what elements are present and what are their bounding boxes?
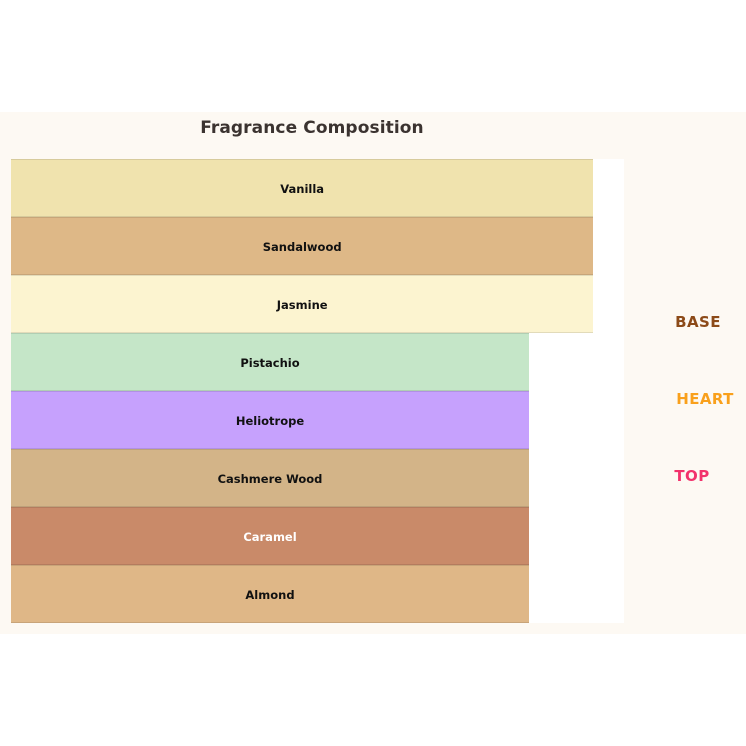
bar-label: Cashmere Wood xyxy=(11,450,529,506)
bar-row: Vanilla xyxy=(11,159,624,217)
bar-row: Pistachio xyxy=(11,333,624,391)
bar-row: Jasmine xyxy=(11,275,624,333)
bar-row: Caramel xyxy=(11,507,624,565)
bar-sandalwood[interactable]: Sandalwood xyxy=(11,217,593,275)
bar-vanilla[interactable]: Vanilla xyxy=(11,159,593,217)
bar-row: Almond xyxy=(11,565,624,623)
bar-pistachio[interactable]: Pistachio xyxy=(11,333,529,391)
bar-row: Heliotrope xyxy=(11,391,624,449)
bar-row: Sandalwood xyxy=(11,217,624,275)
bar-label: Vanilla xyxy=(11,160,593,216)
bar-label: Almond xyxy=(11,566,529,622)
bar-label: Heliotrope xyxy=(11,392,529,448)
bar-label: Caramel xyxy=(11,508,529,564)
chart-figure: Fragrance Composition VanillaSandalwoodJ… xyxy=(0,112,746,634)
bar-label: Sandalwood xyxy=(11,218,593,274)
group-label-top: TOP xyxy=(674,467,709,485)
bar-almond[interactable]: Almond xyxy=(11,565,529,623)
bar-row: Cashmere Wood xyxy=(11,449,624,507)
bar-label: Pistachio xyxy=(11,334,529,390)
bar-cashmere-wood[interactable]: Cashmere Wood xyxy=(11,449,529,507)
bar-jasmine[interactable]: Jasmine xyxy=(11,275,593,333)
page-title: Fragrance Composition xyxy=(0,118,624,138)
bar-label: Jasmine xyxy=(11,276,593,332)
bar-caramel[interactable]: Caramel xyxy=(11,507,529,565)
plot-area: VanillaSandalwoodJasminePistachioHeliotr… xyxy=(11,159,624,623)
group-label-base: BASE xyxy=(675,313,721,331)
group-label-heart: HEART xyxy=(676,390,734,408)
bar-heliotrope[interactable]: Heliotrope xyxy=(11,391,529,449)
